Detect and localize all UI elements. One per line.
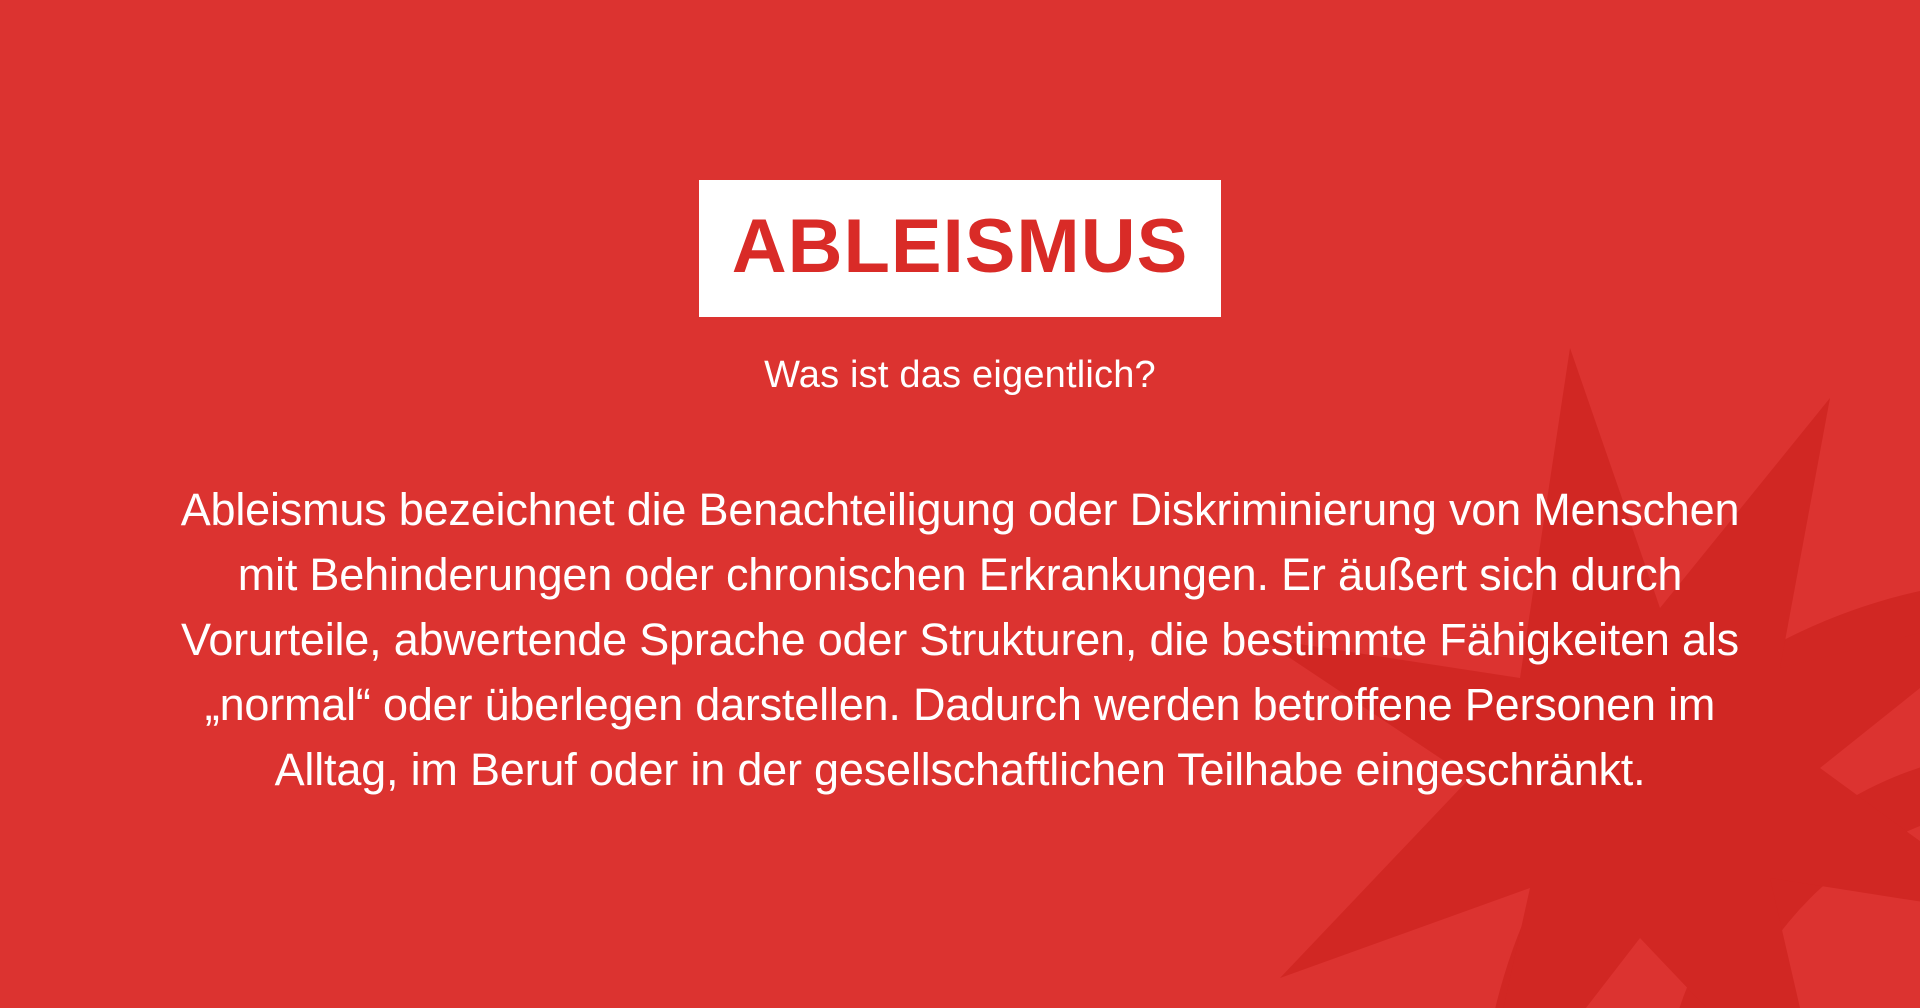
page-title: ABLEISMUS (732, 209, 1189, 285)
body-line: Vorurteile, abwertende Sprache oder Stru… (110, 607, 1810, 672)
body-paragraph: Ableismus bezeichnet die Benachteiligung… (110, 477, 1810, 802)
slide-root: ABLEISMUS Was ist das eigentlich? Ableis… (0, 0, 1920, 1008)
title-badge: ABLEISMUS (699, 180, 1221, 317)
body-line: Ableismus bezeichnet die Benachteiligung… (110, 477, 1810, 542)
body-line: Alltag, im Beruf oder in der gesellschaf… (110, 737, 1810, 802)
body-line: mit Behinderungen oder chronischen Erkra… (110, 542, 1810, 607)
body-line: „normal“ oder überlegen darstellen. Dadu… (110, 672, 1810, 737)
subtitle: Was ist das eigentlich? (764, 353, 1156, 399)
slide-content: ABLEISMUS Was ist das eigentlich? Ableis… (0, 0, 1920, 1008)
